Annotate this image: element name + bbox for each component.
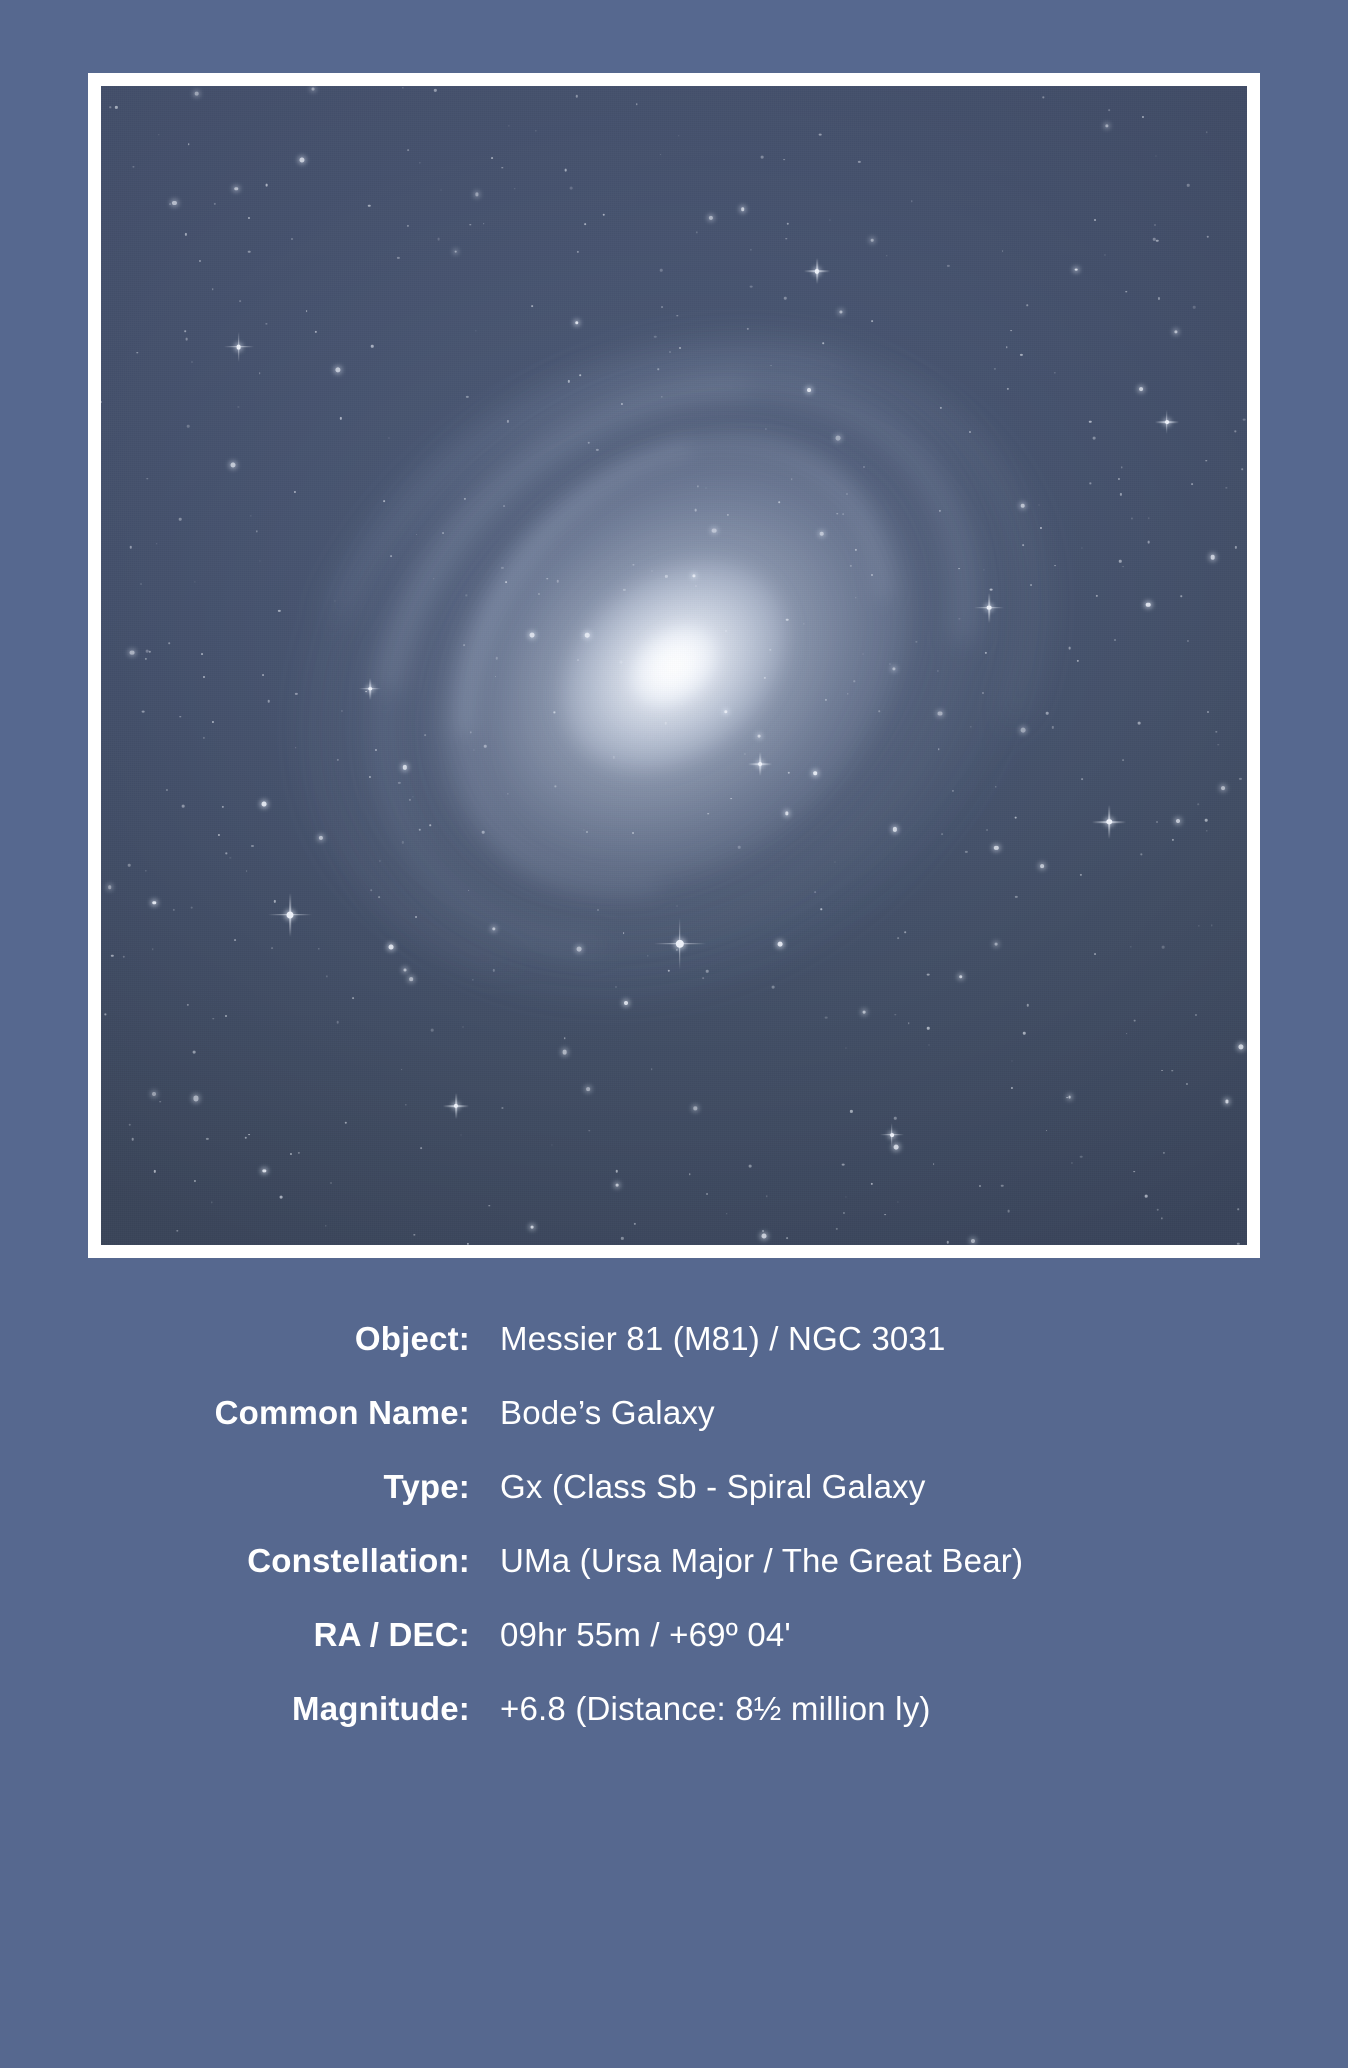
star — [1122, 759, 1124, 761]
star — [665, 575, 667, 577]
star — [708, 216, 712, 220]
star — [397, 257, 399, 259]
star — [290, 1153, 292, 1155]
star — [369, 776, 371, 778]
star — [1068, 1095, 1071, 1098]
star — [1040, 864, 1044, 868]
star — [1080, 1155, 1083, 1158]
star — [886, 255, 887, 256]
star — [493, 969, 495, 971]
star — [177, 1230, 178, 1231]
star — [1132, 518, 1133, 519]
star — [1239, 778, 1241, 780]
bright-star-core — [890, 1133, 894, 1137]
star — [952, 790, 954, 792]
star — [829, 220, 830, 221]
star — [803, 623, 804, 624]
star — [959, 619, 960, 620]
star — [251, 845, 253, 847]
star — [415, 916, 417, 918]
star — [154, 1170, 156, 1172]
star — [1118, 478, 1120, 480]
star — [378, 896, 380, 898]
star — [778, 942, 783, 947]
star — [636, 104, 637, 105]
star — [1156, 821, 1158, 823]
star — [1007, 387, 1009, 389]
star — [583, 830, 584, 831]
star — [615, 986, 616, 987]
star — [1211, 555, 1216, 560]
star — [222, 805, 224, 807]
star — [366, 691, 368, 693]
star — [669, 351, 671, 353]
star — [986, 829, 988, 831]
star — [129, 650, 134, 655]
star — [234, 187, 237, 190]
star — [677, 315, 678, 316]
galaxy-photograph — [101, 86, 1247, 1245]
star — [587, 441, 590, 444]
star — [375, 749, 377, 751]
table-row: RA / DEC: 09hr 55m / +69º 04' — [52, 1616, 1296, 1654]
star — [892, 668, 895, 671]
star — [1090, 483, 1091, 484]
star — [696, 232, 697, 233]
star — [633, 1223, 635, 1225]
star — [762, 1234, 767, 1239]
star — [702, 978, 704, 980]
star — [555, 786, 556, 787]
star — [248, 1134, 250, 1136]
star — [194, 1180, 196, 1182]
star — [1156, 239, 1158, 241]
star — [620, 660, 623, 663]
star — [938, 711, 943, 716]
star — [657, 368, 658, 369]
star — [1105, 124, 1108, 127]
star — [212, 288, 214, 290]
star — [706, 488, 707, 489]
star — [188, 143, 190, 145]
star — [623, 589, 625, 591]
star — [405, 1105, 406, 1106]
star — [501, 566, 503, 568]
star — [182, 805, 185, 808]
star — [1051, 726, 1053, 728]
star — [676, 948, 678, 950]
star — [762, 1230, 764, 1232]
star — [624, 1001, 628, 1005]
star — [772, 986, 775, 989]
value-constellation: UMa (Ursa Major / The Great Bear) — [500, 1542, 1296, 1580]
bright-star-core — [1107, 819, 1112, 824]
star — [492, 927, 495, 930]
star — [678, 135, 680, 137]
star — [990, 588, 993, 591]
star — [621, 403, 623, 405]
star — [819, 133, 822, 136]
star — [1046, 1130, 1048, 1132]
star — [194, 581, 195, 582]
star — [1105, 254, 1106, 255]
star — [554, 712, 555, 713]
star — [530, 633, 535, 638]
star — [738, 846, 741, 849]
star — [1145, 1195, 1148, 1198]
star — [300, 158, 305, 163]
star — [871, 1183, 873, 1185]
star — [982, 692, 984, 694]
star — [231, 462, 236, 467]
star — [871, 239, 874, 242]
star — [193, 1051, 196, 1054]
star — [156, 543, 158, 545]
table-row: Common Name: Bode’s Galaxy — [52, 1394, 1296, 1432]
star — [130, 546, 132, 548]
star — [706, 1193, 708, 1195]
star — [1180, 596, 1181, 597]
value-object: Messier 81 (M81) / NGC 3031 — [500, 1320, 1296, 1358]
star — [836, 513, 838, 515]
star — [238, 407, 239, 408]
star — [461, 1135, 462, 1136]
star — [314, 331, 316, 333]
table-row: Constellation: UMa (Ursa Major / The Gre… — [52, 1542, 1296, 1580]
star — [278, 610, 280, 612]
star — [129, 1123, 132, 1126]
star — [1158, 297, 1160, 299]
star — [879, 710, 881, 712]
star — [474, 749, 475, 750]
star — [467, 1243, 469, 1245]
star — [483, 223, 485, 225]
label-common-name: Common Name: — [52, 1394, 500, 1432]
star — [212, 1018, 213, 1019]
star — [115, 106, 117, 108]
star — [854, 549, 856, 551]
star — [101, 401, 102, 403]
star — [894, 1117, 896, 1119]
star — [1161, 1218, 1162, 1219]
star — [336, 1021, 339, 1024]
star — [1006, 346, 1007, 347]
star — [1206, 132, 1207, 133]
star — [589, 1130, 590, 1131]
star — [894, 1145, 899, 1150]
star — [345, 1122, 347, 1124]
star — [418, 829, 420, 831]
star — [495, 676, 497, 678]
star — [326, 976, 327, 977]
star — [291, 238, 293, 240]
star — [694, 509, 697, 512]
star — [319, 836, 323, 840]
star — [1023, 544, 1025, 546]
star — [758, 735, 761, 738]
star — [862, 653, 863, 654]
star — [1237, 1243, 1239, 1245]
star — [409, 977, 413, 981]
star — [248, 217, 250, 219]
star — [468, 890, 470, 892]
star — [1114, 639, 1116, 641]
star — [1226, 1100, 1229, 1103]
star — [654, 336, 656, 338]
star — [419, 162, 420, 163]
star — [1172, 839, 1174, 841]
star — [306, 310, 308, 312]
star — [647, 955, 648, 956]
spiral-arm-inner — [363, 345, 984, 987]
star — [707, 813, 709, 815]
star — [246, 870, 248, 872]
star — [1054, 565, 1056, 567]
star — [1012, 1061, 1013, 1062]
star — [1014, 816, 1017, 819]
star — [398, 781, 400, 783]
star — [959, 975, 963, 979]
star — [825, 699, 827, 701]
star — [586, 831, 588, 833]
label-type: Type: — [52, 1468, 500, 1506]
star — [1081, 547, 1082, 548]
label-object: Object: — [52, 1320, 500, 1358]
star — [633, 564, 634, 565]
star — [159, 1101, 161, 1103]
star — [597, 909, 599, 911]
star — [1054, 372, 1055, 373]
bright-star-core — [987, 605, 992, 610]
star — [836, 1228, 838, 1230]
star — [1148, 517, 1149, 518]
star — [1133, 1019, 1136, 1022]
bright-star-core — [287, 911, 294, 918]
star — [1081, 778, 1083, 780]
star — [694, 1107, 697, 1110]
star — [441, 189, 442, 190]
star — [1108, 109, 1110, 111]
star — [239, 300, 241, 302]
star — [546, 578, 548, 580]
star — [501, 167, 502, 168]
star — [725, 630, 727, 632]
star — [947, 1241, 949, 1243]
star — [463, 644, 465, 646]
star — [971, 1239, 975, 1243]
star — [180, 716, 181, 717]
star — [1241, 469, 1243, 471]
star — [280, 1195, 283, 1198]
star — [766, 1195, 767, 1196]
star — [750, 250, 751, 251]
star — [145, 657, 147, 659]
star — [158, 134, 159, 135]
star — [1198, 803, 1200, 805]
star — [854, 680, 855, 681]
star — [970, 727, 971, 728]
star — [1217, 744, 1218, 745]
star — [340, 417, 342, 419]
star — [842, 1163, 845, 1166]
star — [388, 945, 393, 950]
star — [1239, 1045, 1244, 1050]
star — [190, 906, 193, 909]
star — [1162, 946, 1165, 949]
table-row: Type: Gx (Class Sb - Spiral Galaxy — [52, 1468, 1296, 1506]
star — [371, 345, 374, 348]
star — [140, 583, 141, 584]
star — [969, 431, 971, 433]
star — [564, 169, 567, 172]
star — [1187, 640, 1189, 642]
star — [133, 167, 134, 168]
star — [871, 574, 873, 576]
star — [1176, 819, 1180, 823]
star — [911, 201, 912, 202]
star — [814, 891, 816, 893]
star — [532, 305, 534, 307]
star — [229, 857, 230, 858]
star — [295, 747, 297, 749]
galaxy-halo-outer — [184, 187, 1165, 1143]
star — [577, 251, 579, 253]
star — [823, 343, 825, 345]
star — [514, 188, 515, 189]
star — [623, 932, 625, 934]
star — [575, 321, 578, 324]
star — [889, 663, 890, 664]
star — [994, 943, 997, 946]
star — [168, 642, 170, 644]
star — [791, 479, 793, 481]
star — [994, 368, 996, 370]
spiral-arm-mid — [253, 253, 1096, 1078]
star — [1075, 268, 1078, 271]
star — [1156, 1208, 1159, 1211]
star — [434, 89, 436, 91]
star — [741, 207, 745, 211]
star — [123, 956, 125, 958]
star — [265, 184, 268, 187]
star — [199, 260, 201, 262]
star — [1096, 595, 1098, 597]
star — [507, 793, 508, 794]
star — [508, 125, 509, 126]
star — [579, 375, 581, 377]
star — [938, 670, 939, 671]
star — [145, 870, 146, 871]
star — [1043, 97, 1044, 98]
star — [234, 939, 236, 941]
star — [884, 1214, 886, 1216]
star — [577, 659, 579, 661]
star — [137, 352, 138, 353]
star — [761, 156, 764, 159]
star — [940, 407, 942, 409]
star — [429, 825, 431, 827]
star — [352, 997, 354, 999]
star — [187, 425, 190, 428]
star — [507, 420, 509, 422]
star — [131, 1138, 134, 1141]
star — [668, 970, 670, 972]
star — [226, 853, 227, 854]
star — [847, 693, 848, 694]
star — [726, 1213, 728, 1215]
star — [1216, 731, 1217, 732]
star — [388, 438, 389, 439]
star — [615, 1170, 617, 1172]
star — [825, 1016, 828, 1019]
star — [368, 204, 370, 206]
star — [379, 860, 380, 861]
star — [850, 1110, 852, 1112]
star — [1015, 895, 1017, 897]
star — [654, 648, 656, 650]
photo-frame — [88, 73, 1260, 1258]
star — [695, 585, 697, 587]
star — [186, 1004, 188, 1006]
star — [401, 1069, 403, 1071]
star — [128, 864, 131, 867]
star — [786, 238, 787, 239]
star — [409, 799, 411, 801]
star — [1040, 527, 1042, 529]
star — [473, 979, 474, 980]
star — [1198, 925, 1199, 926]
star — [1077, 660, 1079, 662]
star — [1133, 1171, 1135, 1173]
star — [105, 1014, 106, 1015]
star — [475, 193, 478, 196]
star — [770, 649, 771, 650]
star — [110, 106, 111, 107]
star — [404, 969, 407, 972]
star — [1222, 786, 1226, 790]
star — [855, 597, 856, 598]
star — [747, 328, 749, 330]
star — [1161, 1070, 1163, 1072]
star — [1193, 306, 1196, 309]
star — [661, 397, 662, 398]
star — [1242, 418, 1245, 421]
star — [836, 435, 841, 440]
star — [179, 518, 182, 521]
star — [271, 947, 273, 949]
star — [488, 1205, 489, 1206]
label-ra-dec: RA / DEC: — [52, 1616, 500, 1654]
star — [692, 574, 695, 577]
star — [820, 909, 821, 910]
star — [225, 1015, 227, 1017]
star — [1206, 460, 1207, 461]
star — [250, 515, 251, 516]
star — [1020, 504, 1025, 509]
star — [947, 265, 949, 267]
star — [538, 593, 540, 595]
star — [470, 224, 471, 225]
star — [1023, 1032, 1025, 1034]
star — [442, 532, 444, 534]
star — [927, 973, 930, 976]
star — [763, 676, 765, 678]
star — [1089, 421, 1092, 424]
star — [958, 568, 960, 570]
bright-star-core — [369, 687, 373, 691]
star — [1071, 1162, 1072, 1163]
star — [1030, 584, 1032, 586]
